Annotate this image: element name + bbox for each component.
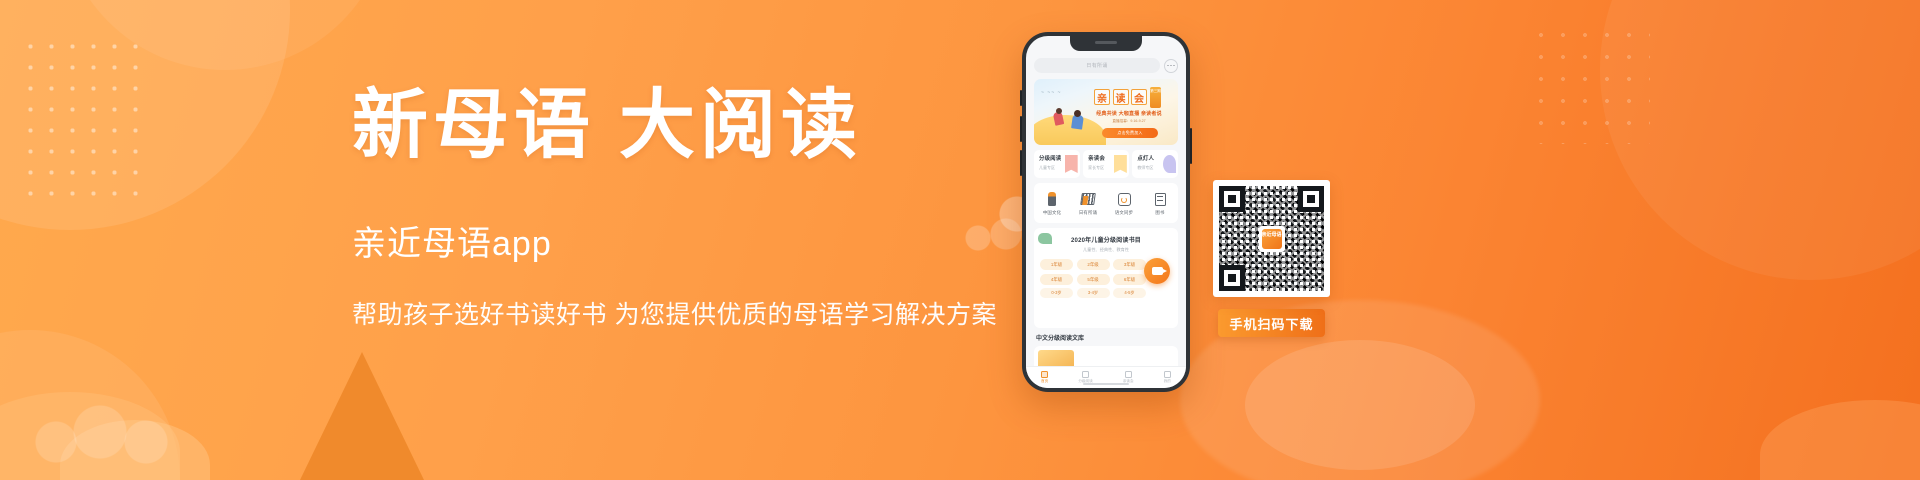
grade-pill[interactable]: 4年级 bbox=[1040, 274, 1073, 285]
download-button[interactable]: 手机扫码下载 bbox=[1218, 309, 1325, 337]
qr-center-logo: 亲近母语 bbox=[1259, 226, 1285, 252]
promo-banner: 新母语 大阅读 亲近母语app 帮助孩子选好书读好书 为您提供优质的母语学习解决… bbox=[0, 0, 1920, 480]
decorative-cloud-bottom-icon bbox=[30, 400, 180, 470]
decorative-circle-top-right bbox=[1600, 0, 1920, 280]
sync-square-icon bbox=[1118, 193, 1131, 206]
grade-pill[interactable]: 1年级 bbox=[1040, 259, 1073, 270]
tab-label: 我的 bbox=[1164, 379, 1171, 384]
decorative-dot-grid-left bbox=[20, 36, 150, 206]
qr-finder-top-left bbox=[1219, 186, 1245, 212]
grade-filter-list: 1年级 2年级 3年级 4年级 5年级 6年级 0-3岁 3-4岁 4-5岁 bbox=[1040, 259, 1148, 298]
tab-label: 首页 bbox=[1041, 379, 1048, 384]
decorative-blob-bottom-left-2 bbox=[60, 420, 210, 480]
decorative-circle-top-left bbox=[0, 0, 290, 230]
quick-link-books[interactable]: 图书 bbox=[1145, 192, 1175, 216]
tagline-text: 帮助孩子选好书读好书 为您提供优质的母语学习解决方案 bbox=[352, 295, 1052, 331]
dot bbox=[1167, 65, 1169, 67]
brand-logo-text: 亲近母语 bbox=[1262, 229, 1282, 249]
search-row: 日有所诵 bbox=[1034, 58, 1178, 73]
quick-link-textbook-sync[interactable]: 语文同步 bbox=[1109, 192, 1139, 216]
quote-mark-icon bbox=[1038, 233, 1052, 244]
category-card-teacher[interactable]: 点灯人 教师专区 bbox=[1132, 150, 1178, 178]
dot bbox=[1170, 65, 1172, 67]
decorative-blob-bottom-left bbox=[0, 392, 180, 480]
person-icon bbox=[1164, 371, 1171, 378]
quick-link-row: 中国文化 日有所诵 语文同步 图书 bbox=[1034, 183, 1178, 223]
banner-copy: 新母语 大阅读 亲近母语app 帮助孩子选好书读好书 为您提供优质的母语学习解决… bbox=[352, 88, 1052, 331]
grade-pill[interactable]: 2年级 bbox=[1077, 259, 1110, 270]
phone-speaker-icon bbox=[1095, 41, 1117, 44]
hero-subtitle: 经典共读 大咖直播 亲读者说 bbox=[1089, 110, 1169, 117]
decorative-circle-top-left-2 bbox=[60, 0, 390, 70]
lamp-icon bbox=[1048, 192, 1056, 206]
app-name-label: 亲近母语app bbox=[352, 216, 1052, 265]
decorative-circle-bottom-left bbox=[0, 330, 180, 480]
qr-finder-top-right bbox=[1298, 186, 1324, 212]
library-section-title: 中文分级阅读文库 bbox=[1034, 333, 1178, 342]
hero-title-char: 会 bbox=[1131, 89, 1147, 105]
blob-purple-icon bbox=[1163, 155, 1176, 173]
category-card-parent-club[interactable]: 亲读会 家长专区 bbox=[1083, 150, 1129, 178]
qr-code-image: 亲近母语 bbox=[1219, 186, 1324, 291]
category-card-graded-reading[interactable]: 分级阅读 儿童专区 bbox=[1034, 150, 1080, 178]
search-placeholder-text: 日有所诵 bbox=[1086, 62, 1107, 69]
hero-date-text: 直播招募：9.16-9.27 bbox=[1089, 119, 1169, 124]
age-pill[interactable]: 4-5岁 bbox=[1113, 288, 1146, 298]
quick-link-chinese-culture[interactable]: 中国文化 bbox=[1037, 192, 1067, 216]
decorative-triangle bbox=[300, 352, 424, 480]
video-play-icon[interactable] bbox=[1144, 258, 1170, 284]
quick-link-label: 日有所诵 bbox=[1079, 210, 1097, 216]
booklist-section: 2020年儿童分级阅读书目 儿童性、经典性、教育性 1年级 2年级 3年级 4年… bbox=[1034, 228, 1178, 328]
search-input[interactable]: 日有所诵 bbox=[1034, 58, 1160, 73]
booklist-subtitle: 儿童性、经典性、教育性 bbox=[1040, 247, 1172, 253]
hero-title: 亲 读 会 bbox=[1094, 89, 1147, 105]
decorative-dot-grid-right bbox=[1530, 24, 1650, 144]
phone-notch bbox=[1070, 36, 1142, 51]
phone-volume-up bbox=[1020, 116, 1022, 142]
open-book-icon bbox=[1080, 193, 1096, 205]
club-icon bbox=[1125, 371, 1132, 378]
category-cards: 分级阅读 儿童专区 亲读会 家长专区 点灯人 教师专区 bbox=[1034, 150, 1178, 178]
child-head-2 bbox=[1074, 110, 1081, 117]
grade-pill[interactable]: 6年级 bbox=[1113, 274, 1146, 285]
booklist-title: 2020年儿童分级阅读书目 bbox=[1040, 235, 1172, 244]
hero-title-char: 亲 bbox=[1094, 89, 1110, 105]
age-pill[interactable]: 0-3岁 bbox=[1040, 288, 1073, 298]
phone-volume-down bbox=[1020, 150, 1022, 176]
hero-join-button[interactable]: 点击免费加入 bbox=[1102, 128, 1158, 138]
quick-link-label: 语文同步 bbox=[1115, 210, 1133, 216]
phone-mockup: 日有所诵 ~ ~~ ~ 亲 bbox=[1022, 32, 1190, 392]
tab-home[interactable]: 首页 bbox=[1041, 371, 1048, 385]
home-indicator bbox=[1083, 383, 1129, 385]
decorative-glow-behind-phone-2 bbox=[1245, 340, 1475, 470]
grade-pill[interactable]: 5年级 bbox=[1077, 274, 1110, 285]
quick-link-daily-recite[interactable]: 日有所诵 bbox=[1073, 192, 1103, 216]
more-menu-icon[interactable] bbox=[1164, 59, 1178, 73]
notebook-icon bbox=[1155, 193, 1166, 206]
phone-mute-switch bbox=[1020, 90, 1022, 106]
age-pill[interactable]: 3-4岁 bbox=[1077, 288, 1110, 298]
grade-pill[interactable]: 3年级 bbox=[1113, 259, 1146, 270]
qr-finder-bottom-left bbox=[1219, 265, 1245, 291]
tab-profile[interactable]: 我的 bbox=[1164, 371, 1171, 385]
dot bbox=[1173, 65, 1175, 67]
app-screen: 日有所诵 ~ ~~ ~ 亲 bbox=[1026, 36, 1186, 388]
hero-ribbon-badge: 第三期 bbox=[1150, 87, 1161, 108]
quick-link-label: 图书 bbox=[1155, 210, 1164, 216]
quick-link-label: 中国文化 bbox=[1043, 210, 1061, 216]
child-head-1 bbox=[1056, 108, 1062, 114]
phone-power-button bbox=[1190, 128, 1192, 164]
qr-block: 亲近母语 手机扫码下载 bbox=[1213, 180, 1330, 337]
home-icon bbox=[1041, 371, 1048, 378]
page-title: 新母语 大阅读 bbox=[352, 88, 1052, 164]
birds-icon: ~ ~~ ~ bbox=[1041, 90, 1061, 96]
decorative-blob-bottom-right bbox=[1760, 400, 1920, 480]
hero-banner[interactable]: ~ ~~ ~ 亲 读 会 第三期 经典共读 大咖直播 亲读者说 直播招募：9.1… bbox=[1034, 79, 1178, 145]
qr-code-panel: 亲近母语 bbox=[1213, 180, 1330, 297]
hero-title-char: 读 bbox=[1113, 89, 1129, 105]
phone-screen: 日有所诵 ~ ~~ ~ 亲 bbox=[1026, 36, 1186, 388]
book-icon bbox=[1082, 371, 1089, 378]
